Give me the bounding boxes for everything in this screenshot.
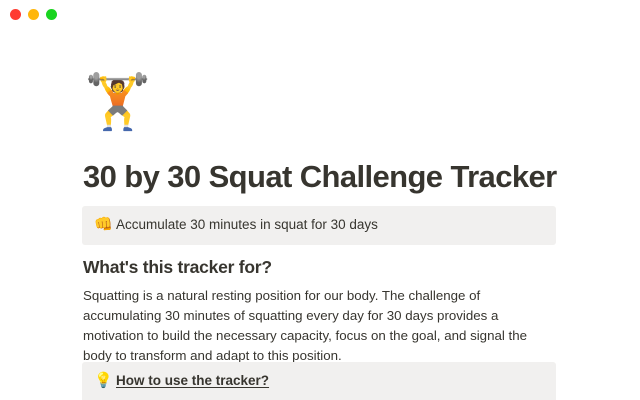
maximize-window-button[interactable] [46, 9, 57, 20]
fist-emoji: 👊 [94, 215, 116, 235]
document-page: 🏋️ 30 by 30 Squat Challenge Tracker 👊 Ac… [0, 28, 640, 400]
callout-accumulate[interactable]: 👊 Accumulate 30 minutes in squat for 30 … [82, 206, 556, 245]
section-heading-tracker-purpose: What's this tracker for? [83, 256, 272, 279]
how-to-use-tracker-link[interactable]: How to use the tracker? [116, 371, 269, 391]
app-window: 🏋️ 30 by 30 Squat Challenge Tracker 👊 Ac… [0, 0, 640, 400]
weightlifter-emoji[interactable]: 🏋️ [84, 70, 148, 134]
close-window-button[interactable] [10, 9, 21, 20]
page-title: 30 by 30 Squat Challenge Tracker [83, 158, 557, 195]
section-paragraph-tracker-purpose: Squatting is a natural resting position … [83, 286, 557, 366]
callout-how-to-use[interactable]: 💡 How to use the tracker? [82, 362, 556, 400]
traffic-light-controls [0, 9, 57, 20]
window-titlebar [0, 0, 640, 28]
light-bulb-emoji: 💡 [94, 371, 116, 391]
callout-accumulate-text: Accumulate 30 minutes in squat for 30 da… [116, 215, 378, 235]
minimize-window-button[interactable] [28, 9, 39, 20]
